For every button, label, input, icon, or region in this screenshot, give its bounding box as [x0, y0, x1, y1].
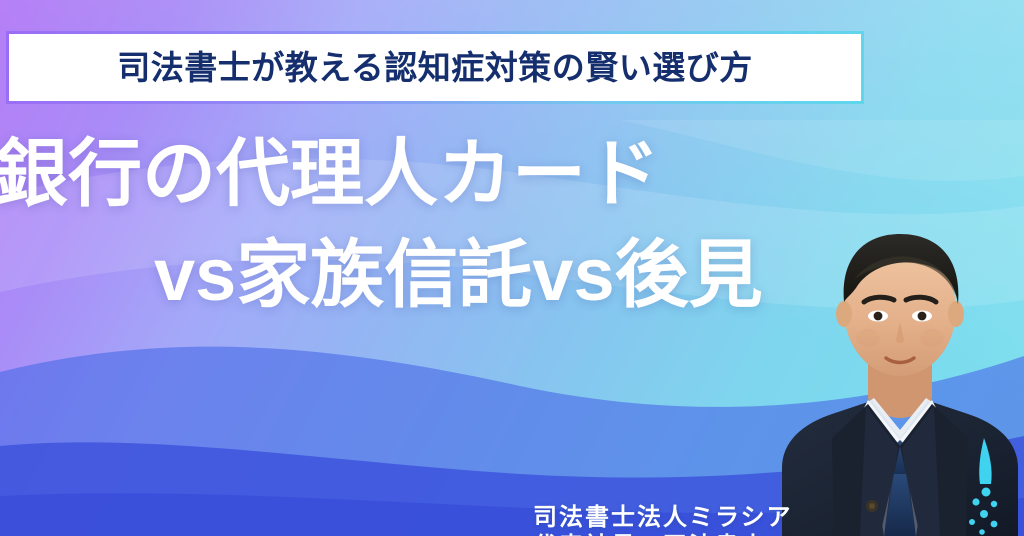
subtitle-badge: 司法書士が教える認知症対策の賢い選び方	[6, 31, 864, 104]
credit-text: 司法書士法人ミラシア 代表社員 司法書士	[533, 503, 793, 536]
main-headline: 銀行の代理人カード vs家族信託vs後見	[0, 124, 900, 325]
credit-line-2: 代表社員 司法書士	[533, 532, 793, 536]
presenter-photo	[776, 206, 1024, 536]
thumbnail-canvas: 司法書士が教える認知症対策の賢い選び方 銀行の代理人カード vs家族信託vs後見	[0, 0, 1024, 536]
subtitle-badge-text: 司法書士が教える認知症対策の賢い選び方	[117, 51, 753, 84]
credit-line-1: 司法書士法人ミラシア	[533, 504, 793, 531]
headline-line-1: 銀行の代理人カード	[0, 124, 900, 225]
